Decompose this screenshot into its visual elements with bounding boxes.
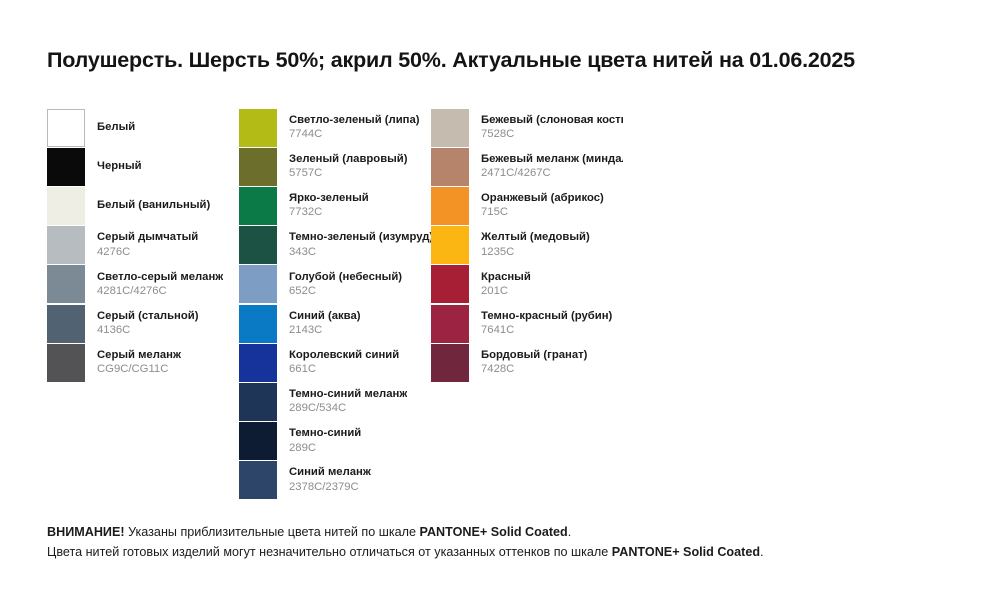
swatch-pantone-code: 7744C [289,128,420,141]
color-swatch-chip [431,148,469,186]
swatch-row: Оранжевый (абрикос)715C [431,186,623,225]
color-swatch-chip [47,148,85,186]
swatch-text: Голубой (небесный)652C [289,271,402,299]
swatch-row: Темно-синий289C [239,422,431,461]
swatch-text: Серый (стальной)4136C [97,310,199,338]
swatch-row: Бордовый (гранат)7428C [431,343,623,382]
swatch-text: Темно-зеленый (изумруд)343C [289,231,431,259]
swatch-color-name: Бежевый (слоновая кость) [481,114,623,127]
footer-line-1-end: . [568,525,572,539]
swatch-text: Темно-синий289C [289,427,361,455]
swatch-row: Королевский синий661C [239,343,431,382]
swatch-text: Королевский синий661C [289,349,399,377]
color-swatch-chip [239,148,277,186]
color-swatch-chip [239,383,277,421]
color-swatch-columns: БелыйЧерныйБелый (ванильный)Серый дымчат… [47,108,967,500]
swatch-color-name: Серый (стальной) [97,310,199,323]
swatch-color-name: Светло-зеленый (липа) [289,114,420,127]
swatch-text: Бордовый (гранат)7428C [481,349,587,377]
swatch-row: Синий (аква)2143C [239,304,431,343]
swatch-text: Черный [97,160,142,173]
swatch-column-greens-blues: Светло-зеленый (липа)7744CЗеленый (лавро… [239,108,431,500]
swatch-column-neutrals: БелыйЧерныйБелый (ванильный)Серый дымчат… [47,108,239,500]
color-swatch-chip [239,461,277,499]
swatch-pantone-code: 7732C [289,206,369,219]
swatch-color-name: Темно-красный (рубин) [481,310,612,323]
swatch-text: Серый дымчатый4276C [97,231,198,259]
swatch-text: Светло-зеленый (липа)7744C [289,114,420,142]
swatch-pantone-code: 4281C/4276C [97,285,223,298]
swatch-row: Черный [47,147,239,186]
swatch-color-name: Желтый (медовый) [481,231,590,244]
color-swatch-chip [239,344,277,382]
swatch-pantone-code: 1235C [481,246,590,259]
swatch-row: Бежевый меланж (миндаль)2471C/4267C [431,147,623,186]
swatch-text: Бежевый меланж (миндаль)2471C/4267C [481,153,623,181]
color-swatch-chip [239,187,277,225]
swatch-color-name: Темно-зеленый (изумруд) [289,231,431,244]
swatch-color-name: Бежевый меланж (миндаль) [481,153,623,166]
swatch-color-name: Бордовый (гранат) [481,349,587,362]
swatch-row: Белый [47,108,239,147]
swatch-pantone-code: 5757C [289,167,408,180]
swatch-pantone-code: 289C [289,442,361,455]
color-swatch-chip [47,187,85,225]
swatch-text: Светло-серый меланж4281C/4276C [97,271,223,299]
color-swatch-chip [431,109,469,147]
swatch-pantone-code: 7428C [481,363,587,376]
color-swatch-chip [239,226,277,264]
footer-line-2: Цвета нитей готовых изделий могут незнач… [47,543,947,563]
swatch-text: Серый меланжCG9C/CG11C [97,349,181,377]
swatch-row: Серый (стальной)4136C [47,304,239,343]
color-swatch-chip [47,265,85,303]
swatch-row: Белый (ванильный) [47,186,239,225]
swatch-color-name: Синий (аква) [289,310,361,323]
swatch-color-name: Темно-синий [289,427,361,440]
color-swatch-chip [239,109,277,147]
swatch-row: Серый дымчатый4276C [47,226,239,265]
swatch-color-name: Белый (ванильный) [97,199,210,212]
swatch-row: Серый меланжCG9C/CG11C [47,343,239,382]
swatch-color-name: Синий меланж [289,466,371,479]
swatch-color-name: Красный [481,271,531,284]
color-swatch-chip [47,226,85,264]
swatch-pantone-code: 7528C [481,128,623,141]
swatch-text: Оранжевый (абрикос)715C [481,192,604,220]
color-swatch-chip [47,305,85,343]
footer-line-1: ВНИМАНИЕ! Указаны приблизительные цвета … [47,523,947,543]
swatch-row: Ярко-зеленый7732C [239,186,431,225]
swatch-color-name: Зеленый (лавровый) [289,153,408,166]
footer-attention-label: ВНИМАНИЕ! [47,525,125,539]
swatch-text: Темно-красный (рубин)7641C [481,310,612,338]
swatch-color-name: Оранжевый (абрикос) [481,192,604,205]
swatch-text: Белый [97,121,135,134]
swatch-row: Светло-зеленый (липа)7744C [239,108,431,147]
color-swatch-chip [431,187,469,225]
swatch-text: Желтый (медовый)1235C [481,231,590,259]
swatch-color-name: Светло-серый меланж [97,271,223,284]
swatch-row: Темно-зеленый (изумруд)343C [239,226,431,265]
swatch-row: Синий меланж2378C/2379C [239,461,431,500]
swatch-color-name: Белый [97,121,135,134]
color-swatch-chip [431,344,469,382]
swatch-pantone-code: 2471C/4267C [481,167,623,180]
swatch-color-name: Ярко-зеленый [289,192,369,205]
color-swatch-chip [239,265,277,303]
swatch-pantone-code: CG9C/CG11C [97,363,181,376]
swatch-pantone-code: 661C [289,363,399,376]
footer-brand-1: PANTONE+ Solid Coated [419,525,567,539]
swatch-row: Светло-серый меланж4281C/4276C [47,265,239,304]
swatch-pantone-code: 4276C [97,246,198,259]
swatch-row: Темно-синий меланж289C/534C [239,382,431,421]
footer-line-2-text: Цвета нитей готовых изделий могут незнач… [47,545,612,559]
footer-brand-2: PANTONE+ Solid Coated [612,545,760,559]
swatch-pantone-code: 201C [481,285,531,298]
swatch-text: Синий меланж2378C/2379C [289,466,371,494]
swatch-color-name: Черный [97,160,142,173]
swatch-row: Желтый (медовый)1235C [431,226,623,265]
swatch-color-name: Темно-синий меланж [289,388,407,401]
swatch-pantone-code: 715C [481,206,604,219]
swatch-row: Бежевый (слоновая кость)7528C [431,108,623,147]
footer-line-2-end: . [760,545,764,559]
footer-line-1-text: Указаны приблизительные цвета нитей по ш… [125,525,420,539]
swatch-pantone-code: 4136C [97,324,199,337]
swatch-color-name: Королевский синий [289,349,399,362]
swatch-pantone-code: 343C [289,246,431,259]
swatch-text: Зеленый (лавровый)5757C [289,153,408,181]
swatch-pantone-code: 2378C/2379C [289,481,371,494]
swatch-color-name: Голубой (небесный) [289,271,402,284]
swatch-row: Темно-красный (рубин)7641C [431,304,623,343]
swatch-pantone-code: 7641C [481,324,612,337]
swatch-text: Красный201C [481,271,531,299]
color-swatch-chip [47,109,85,147]
swatch-pantone-code: 289C/534C [289,402,407,415]
color-swatch-chip [431,226,469,264]
swatch-text: Ярко-зеленый7732C [289,192,369,220]
swatch-color-name: Серый дымчатый [97,231,198,244]
swatch-text: Синий (аква)2143C [289,310,361,338]
color-swatch-chip [431,265,469,303]
swatch-row: Голубой (небесный)652C [239,265,431,304]
color-swatch-chip [239,305,277,343]
swatch-text: Белый (ванильный) [97,199,210,212]
swatch-text: Бежевый (слоновая кость)7528C [481,114,623,142]
color-swatch-chip [431,305,469,343]
color-swatch-chip [239,422,277,460]
footer-disclaimer: ВНИМАНИЕ! Указаны приблизительные цвета … [47,523,947,562]
swatch-color-name: Серый меланж [97,349,181,362]
swatch-column-warm-reds: Бежевый (слоновая кость)7528CБежевый мел… [431,108,623,500]
swatch-row: Красный201C [431,265,623,304]
swatch-pantone-code: 652C [289,285,402,298]
color-swatch-chip [47,344,85,382]
swatch-pantone-code: 2143C [289,324,361,337]
swatch-text: Темно-синий меланж289C/534C [289,388,407,416]
swatch-row: Зеленый (лавровый)5757C [239,147,431,186]
page-title: Полушерсть. Шерсть 50%; акрил 50%. Актуа… [47,48,855,73]
